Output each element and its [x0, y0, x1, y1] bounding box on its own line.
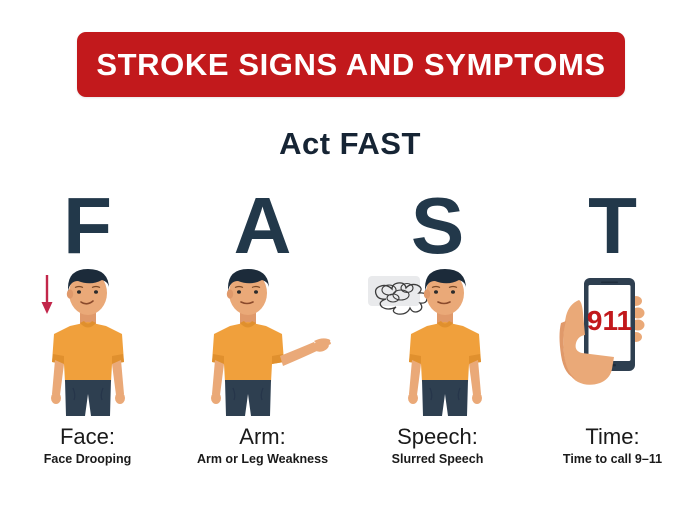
caption-sub-arm: Arm or Leg Weakness — [175, 451, 350, 468]
illustration-face-drooping — [0, 264, 175, 416]
big-letter-a: A — [175, 186, 350, 266]
caption-time: Time: Time to call 9–11 — [525, 424, 700, 468]
big-letter-t: T — [525, 186, 700, 266]
caption-arm: Arm: Arm or Leg Weakness — [175, 424, 350, 468]
column-speech: S — [350, 186, 525, 486]
caption-sub-speech: Slurred Speech — [350, 451, 525, 468]
down-arrow-icon — [41, 275, 52, 314]
caption-title-speech: Speech: — [350, 424, 525, 450]
fast-columns: F — [0, 186, 700, 486]
illustration-arm-weakness — [175, 264, 350, 416]
column-face: F — [0, 186, 175, 486]
subtitle-act-fast: Act FAST — [0, 126, 700, 162]
page-title: STROKE SIGNS AND SYMPTOMS — [96, 47, 605, 83]
illustration-hand-holding-phone: 911 — [525, 264, 700, 416]
big-letter-s: S — [350, 186, 525, 266]
caption-title-time: Time: — [525, 424, 700, 450]
big-letter-f: F — [0, 186, 175, 266]
caption-title-arm: Arm: — [175, 424, 350, 450]
scribble-speech-bubble-icon — [368, 276, 427, 314]
caption-speech: Speech: Slurred Speech — [350, 424, 525, 468]
column-arm: A — [175, 186, 350, 486]
column-time: T 911 — [525, 186, 700, 486]
caption-sub-face: Face Drooping — [0, 451, 175, 468]
caption-sub-time: Time to call 9–11 — [525, 451, 700, 468]
stroke-infographic-poster: STROKE SIGNS AND SYMPTOMS Act FAST F — [0, 0, 700, 517]
phone-screen-number: 911 — [586, 305, 631, 336]
title-banner: STROKE SIGNS AND SYMPTOMS — [77, 32, 625, 97]
caption-title-face: Face: — [0, 424, 175, 450]
illustration-slurred-speech — [350, 264, 525, 416]
raised-arm — [280, 338, 331, 366]
caption-face: Face: Face Drooping — [0, 424, 175, 468]
